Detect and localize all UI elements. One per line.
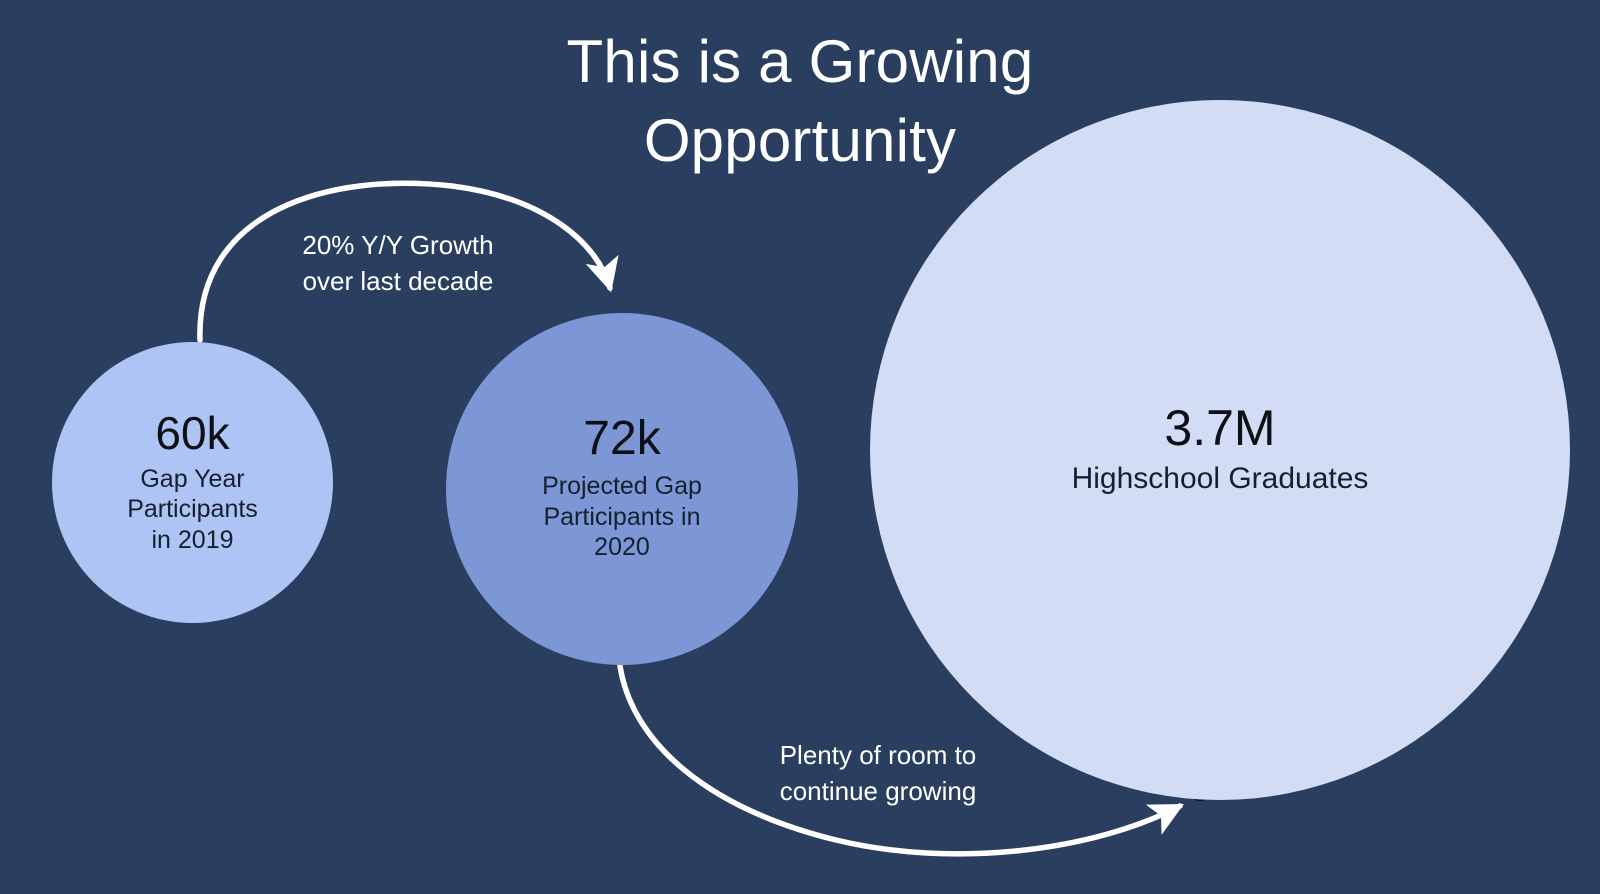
bubble-gap-year-2019[interactable]: 60k Gap Year Participants in 2019 [52,342,333,623]
bubble-value-2020: 72k [583,415,660,463]
annotation-growth-label: 20% Y/Y Growth over last decade [238,228,558,300]
bubble-caption-2020: Projected Gap Participants in 2020 [542,471,702,563]
bubble-value-graduates: 3.7M [1164,403,1275,453]
bubble-caption-graduates: Highschool Graduates [1072,461,1369,498]
bubble-highschool-graduates[interactable]: 3.7M Highschool Graduates [870,100,1570,800]
slide-canvas: This is a Growing Opportunity 60k Gap Ye… [0,0,1600,894]
bubble-value-2019: 60k [155,410,229,456]
bubble-projected-gap-2020[interactable]: 72k Projected Gap Participants in 2020 [446,313,798,665]
bubble-caption-2019: Gap Year Participants in 2019 [127,464,258,556]
annotation-headroom-label: Plenty of room to continue growing [718,738,1038,810]
